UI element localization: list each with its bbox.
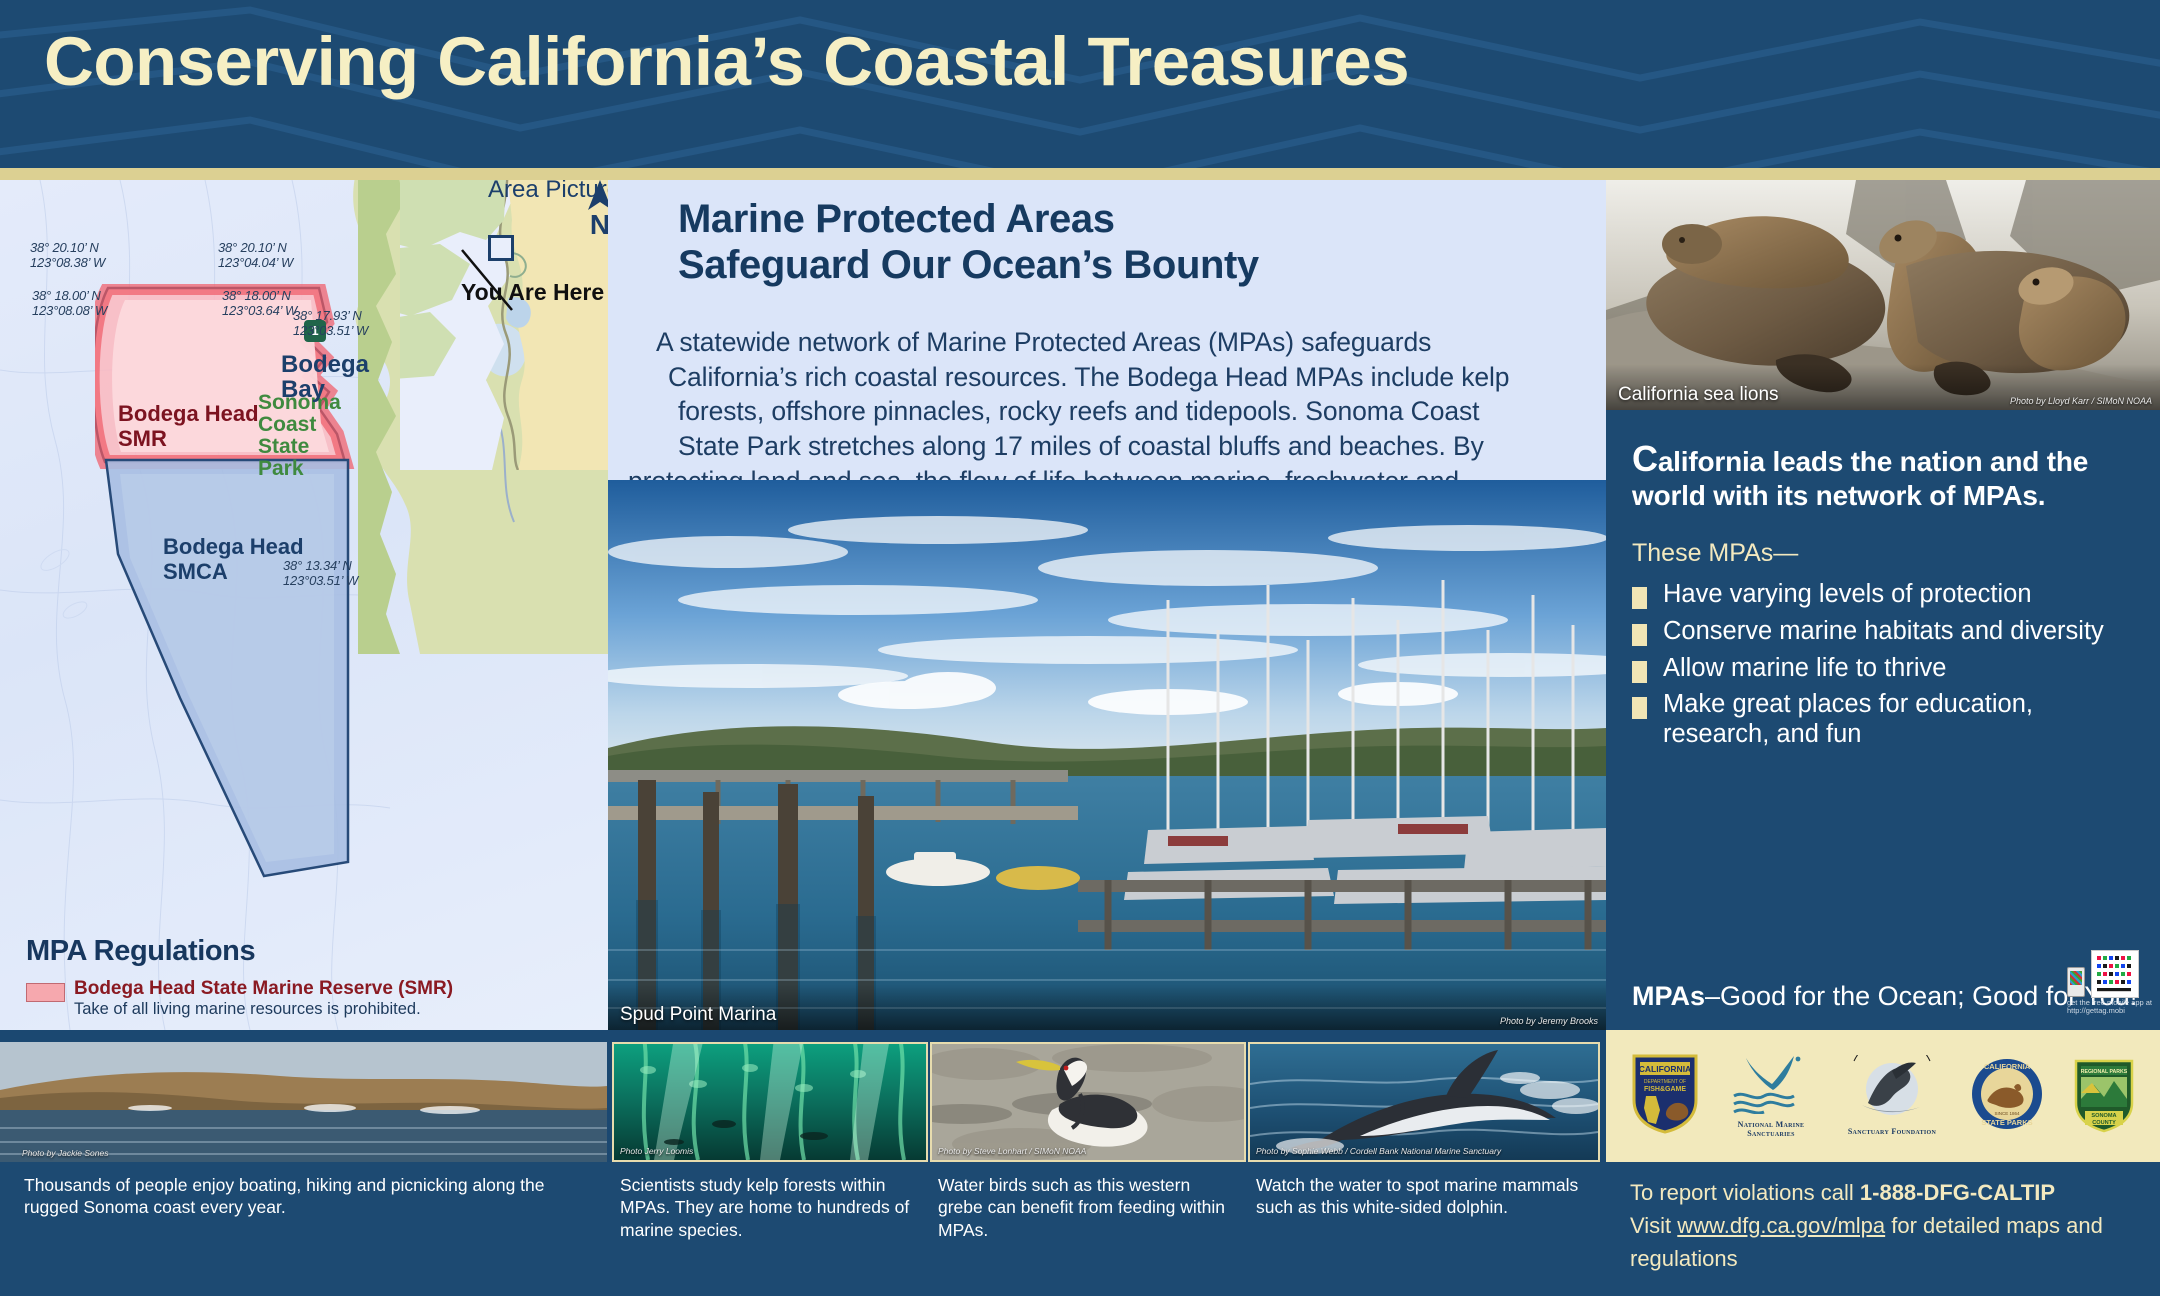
sea-lions-caption: California sea lions	[1618, 384, 1779, 406]
bullet-square-icon	[1632, 624, 1647, 646]
sonoma-regional-parks-badge-icon: REGIONAL PARKS SONOMA COUNTY	[2072, 1055, 2136, 1133]
report-violations-line: To report violations call 1-888-DFG-CALT…	[1630, 1176, 2160, 1209]
tagline-prefix: MPAs	[1632, 981, 1705, 1011]
logo-national-marine-sanctuaries: National Marine Sanctuaries	[1728, 1054, 1814, 1139]
you-are-here-label: You Are Here	[461, 280, 604, 304]
photo-kelp-forest: Photo Jerry Loomis	[612, 1042, 928, 1162]
footer: Thousands of people enjoy boating, hikin…	[0, 1162, 2160, 1296]
smr-title: Bodega Head State Marine Reserve (SMR)	[74, 978, 586, 999]
intro-line-2: forests, offshore pinnacles, rocky reefs…	[678, 394, 1588, 429]
bodega-bay-label: Bodega Bay	[281, 352, 369, 402]
bullet-square-icon	[1632, 697, 1647, 719]
header-divider	[0, 168, 2160, 180]
footer-contact: To report violations call 1-888-DFG-CALT…	[1630, 1176, 2160, 1275]
intro-line-3: State Park stretches along 17 miles of c…	[678, 429, 1588, 464]
smca-polygon[interactable]	[96, 458, 396, 878]
smr-rules-text: Take of all living marine resources is p…	[74, 1000, 586, 1019]
svg-text:CALIFORNIA: CALIFORNIA	[1984, 1062, 2031, 1071]
intro-line-1: California’s rich coastal resources. The…	[668, 360, 1588, 395]
svg-text:SONOMA: SONOMA	[2091, 1113, 2116, 1119]
visit-website-line: Visit www.dfg.ca.gov/mlpa for detailed m…	[1630, 1209, 2160, 1275]
dolphin-illustration	[1250, 1044, 1598, 1160]
svg-text:REGIONAL PARKS: REGIONAL PARKS	[2081, 1069, 2128, 1075]
bullet-text: Have varying levels of protection	[1663, 580, 2032, 610]
spud-point-marina-photo: Spud Point Marina Photo by Jeremy Brooks	[608, 480, 1606, 1030]
list-item: Conserve marine habitats and diversity	[1632, 617, 2134, 647]
marina-scene-illustration	[608, 480, 1606, 1030]
smca-title: Bodega Head State Marine Conservation Ar…	[74, 1029, 586, 1030]
website-link[interactable]: www.dfg.ca.gov/mlpa	[1677, 1213, 1885, 1238]
photo-western-grebe: Photo by Steve Lonhart / SIMoN NOAA	[930, 1042, 1246, 1162]
logo-sonoma-county-regional-parks: REGIONAL PARKS SONOMA COUNTY	[2072, 1055, 2136, 1138]
partner-logos: CALIFORNIA DEPARTMENT OF FISH&GAME Natio…	[1606, 1030, 2160, 1162]
photo-white-sided-dolphin: Photo by Sophie Webb / Cordell Bank Nati…	[1248, 1042, 1600, 1162]
coord-ne: 38° 20.10’ N 123°04.04’ W	[218, 240, 293, 271]
smr-color-swatch	[26, 983, 65, 1002]
svg-text:CALIFORNIA: CALIFORNIA	[1639, 1064, 1691, 1074]
state-parks-bear-seal-icon: CALIFORNIA STATE PARKS SINCE 1864	[1970, 1057, 2044, 1131]
coord-nw: 38° 20.10’ N 123°08.38’ W	[30, 240, 105, 271]
regulation-item-smr: Bodega Head State Marine Reserve (SMR) T…	[26, 978, 586, 1020]
list-item: Make great places for education, researc…	[1632, 690, 2134, 750]
footer-caption-1: Scientists study kelp forests within MPA…	[620, 1174, 920, 1241]
photo-credit: Photo by Jackie Sones	[22, 1148, 108, 1158]
mpa-benefits-list: Have varying levels of protection Conser…	[1606, 568, 2160, 750]
mpa-facts-panel: California sea lions Photo by Lloyd Karr…	[1606, 180, 2160, 1030]
logo-california-fish-and-game: CALIFORNIA DEPARTMENT OF FISH&GAME	[1630, 1052, 1700, 1141]
coord-south: 38° 13.34’ N 123°03.51’ W	[283, 558, 358, 589]
svg-text:STATE PARKS: STATE PARKS	[1981, 1118, 2032, 1127]
qr-pattern-icon	[2095, 954, 2135, 994]
breaching-whale-icon	[1842, 1055, 1942, 1121]
marina-caption: Spud Point Marina	[620, 1004, 776, 1026]
coord-sw: 38° 18.00’ N 123°08.08’ W	[32, 288, 107, 319]
page-title: Conserving California’s Coastal Treasure…	[44, 22, 1409, 101]
footer-caption-2: Water birds such as this western grebe c…	[938, 1174, 1236, 1241]
area-pictured-box-icon	[488, 235, 514, 261]
logo-caption: Sanctuary Foundation	[1842, 1128, 1942, 1137]
mpa-tagline: MPAs–Good for the Ocean; Good for You!	[1632, 981, 2137, 1012]
bullet-text: Allow marine life to thrive	[1663, 654, 1946, 684]
main-heading: Marine Protected Areas Safeguard Our Oce…	[678, 196, 1578, 289]
logo-monterey-bay-sanctuary-foundation: Sanctuary Foundation	[1842, 1055, 1942, 1137]
coast-bluffs-illustration	[0, 1042, 607, 1162]
marina-photo-credit: Photo by Jeremy Brooks	[1500, 1016, 1598, 1026]
mpa-facts-body: California leads the nation and the worl…	[1606, 410, 2160, 757]
headline-rest: alifornia leads the nation and the world…	[1632, 446, 2088, 511]
poster: Conserving California’s Coastal Treasure…	[0, 0, 2160, 1296]
svg-text:COUNTY: COUNTY	[2092, 1120, 2116, 1126]
kelp-forest-illustration	[614, 1044, 926, 1160]
bullet-text: Make great places for education, researc…	[1663, 690, 2134, 750]
photo-credit: Photo by Sophie Webb / Cordell Bank Nati…	[1256, 1146, 1501, 1156]
mobile-phone-icon	[2067, 967, 2085, 997]
svg-text:FISH&GAME: FISH&GAME	[1644, 1086, 1686, 1093]
svg-text:DEPARTMENT OF: DEPARTMENT OF	[1644, 1079, 1686, 1085]
visit-prefix: Visit	[1630, 1213, 1677, 1238]
footer-caption-0: Thousands of people enjoy boating, hikin…	[24, 1174, 596, 1219]
mobile-tag-block[interactable]: get the free mobile app at http://gettag…	[2067, 951, 2152, 1016]
whale-tail-icon	[1728, 1054, 1814, 1114]
coord-se: 38° 18.00’ N 123°03.64’ W	[222, 288, 297, 319]
bullet-text: Conserve marine habitats and diversity	[1663, 617, 2104, 647]
fish-and-game-shield-icon: CALIFORNIA DEPARTMENT OF FISH&GAME	[1630, 1052, 1700, 1136]
logo-caption: National Marine Sanctuaries	[1728, 1121, 1814, 1139]
sea-lions-photo: California sea lions Photo by Lloyd Karr…	[1606, 180, 2160, 410]
report-prefix: To report violations call	[1630, 1180, 1860, 1205]
list-item: Have varying levels of protection	[1632, 580, 2134, 610]
these-mpas-label: These MPAs—	[1606, 513, 2160, 568]
sea-lions-photo-credit: Photo by Lloyd Karr / SIMoN NOAA	[2010, 396, 2152, 406]
headline-dropcap: C	[1632, 438, 1658, 479]
svg-text:SINCE 1864: SINCE 1864	[1994, 1111, 2020, 1116]
coord-bay: 38° 17.93’ N 123°03.51’ W	[293, 308, 368, 339]
bullet-square-icon	[1632, 587, 1647, 609]
bullet-square-icon	[1632, 661, 1647, 683]
list-item: Allow marine life to thrive	[1632, 654, 2134, 684]
main-content: Marine Protected Areas Safeguard Our Oce…	[608, 180, 1606, 1030]
qr-caption: get the free mobile app at http://gettag…	[2067, 999, 2152, 1016]
mpa-regulations: MPA Regulations Bodega Head State Marine…	[26, 935, 586, 1030]
header-banner: Conserving California’s Coastal Treasure…	[0, 0, 2160, 168]
western-grebe-illustration	[932, 1044, 1244, 1160]
microsoft-tag-qr-icon[interactable]	[2092, 951, 2138, 997]
sonoma-coast-state-park-label: Sonoma Coast State Park	[258, 392, 341, 480]
footer-caption-3: Watch the water to spot marine mammals s…	[1256, 1174, 1586, 1219]
photo-coast-bluffs: Photo by Jackie Sones	[0, 1042, 607, 1162]
smr-label: Bodega Head SMR	[118, 402, 259, 451]
logo-california-state-parks: CALIFORNIA STATE PARKS SINCE 1864	[1970, 1057, 2044, 1136]
report-phone: 1-888-DFG-CALTIP	[1860, 1180, 2055, 1205]
photo-credit: Photo Jerry Loomis	[620, 1146, 693, 1156]
regulation-item-smca: Bodega Head State Marine Conservation Ar…	[26, 1029, 586, 1030]
mpa-facts-headline: California leads the nation and the worl…	[1606, 410, 2160, 513]
photo-credit: Photo by Steve Lonhart / SIMoN NOAA	[938, 1146, 1086, 1156]
regulations-heading: MPA Regulations	[26, 935, 586, 968]
intro-line-0: A statewide network of Marine Protected …	[656, 325, 1588, 360]
